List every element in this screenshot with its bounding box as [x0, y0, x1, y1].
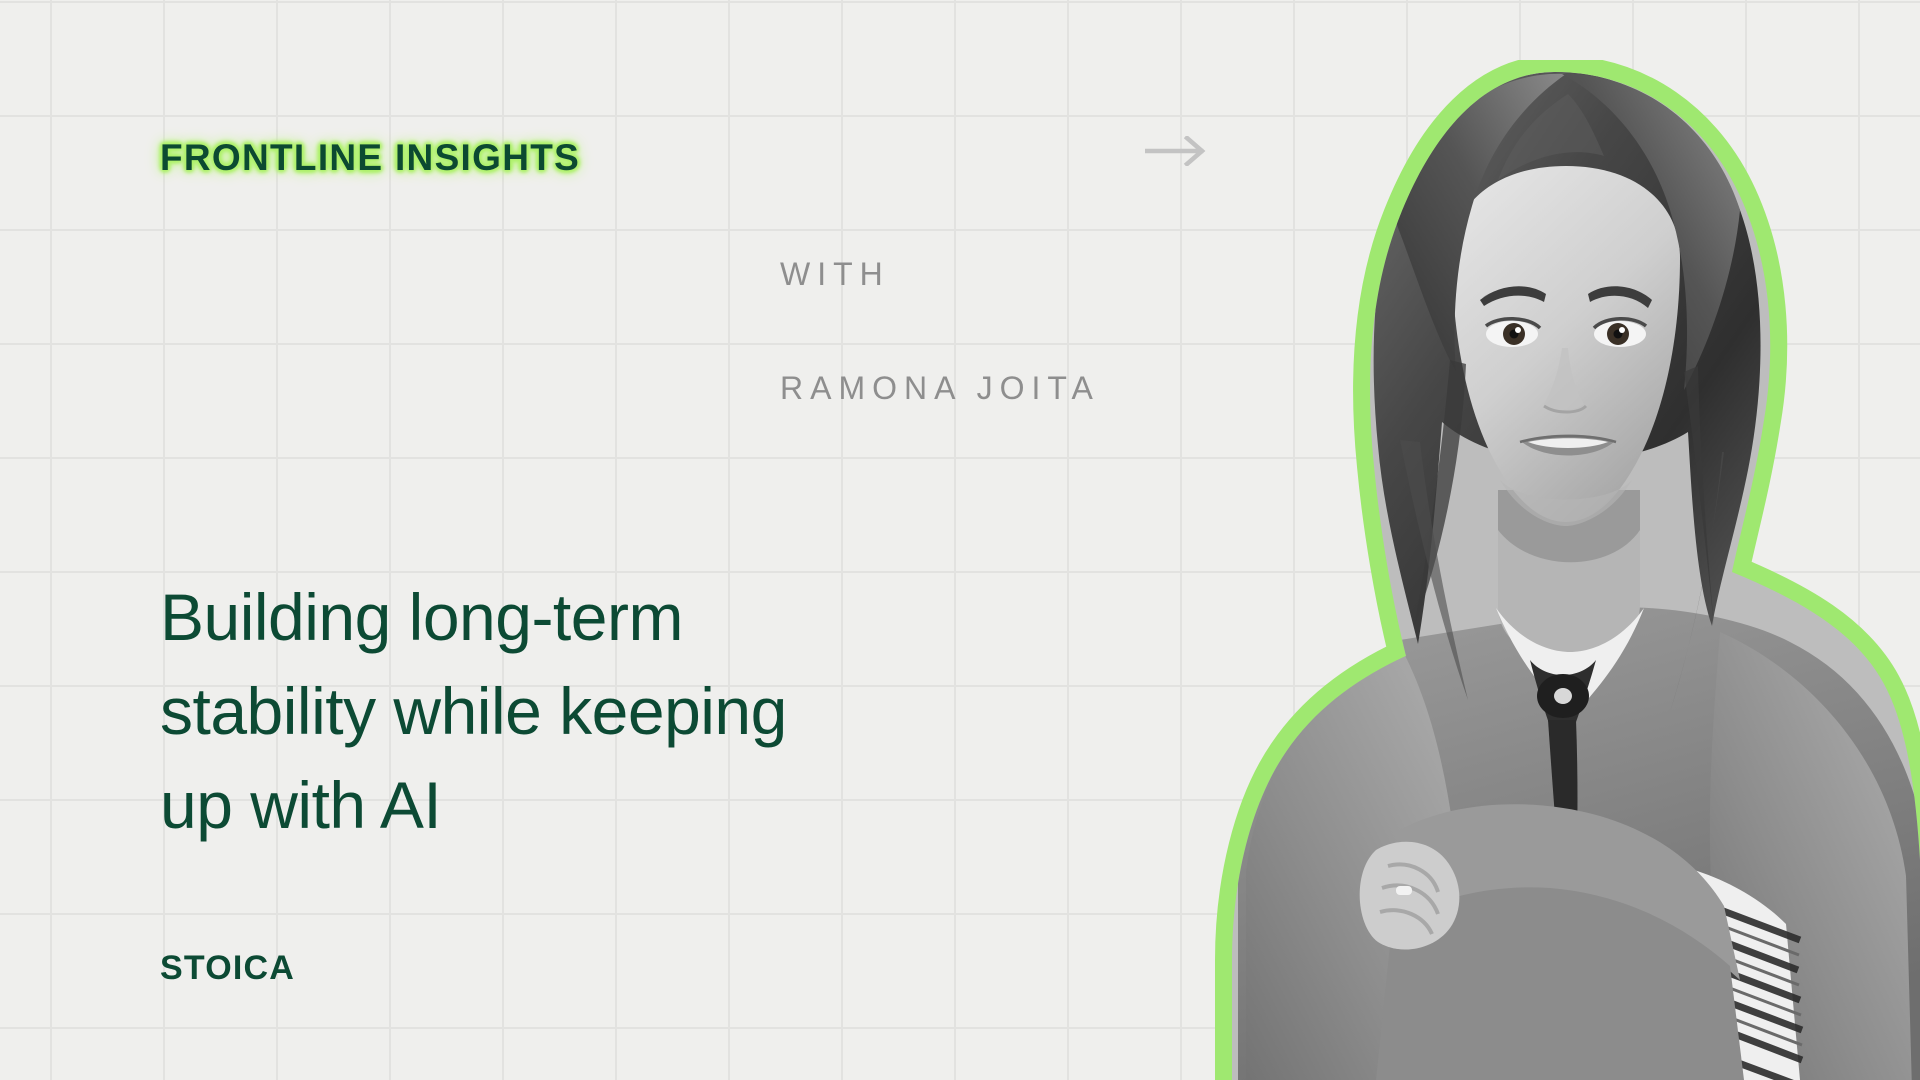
- headline-line-1: Building long-term: [160, 570, 960, 664]
- presentation-slide: FRONTLINE INSIGHTS WITH RAMONA JOITA Bui…: [0, 0, 1920, 1080]
- kicker-row: FRONTLINE INSIGHTS: [160, 137, 1060, 179]
- headline: Building long-term stability while keepi…: [160, 570, 960, 852]
- brand-logo: STOICA: [160, 949, 295, 988]
- slide-content: FRONTLINE INSIGHTS WITH RAMONA JOITA Bui…: [0, 0, 1160, 1080]
- headline-line-3: up with AI: [160, 758, 960, 852]
- with-label: WITH: [780, 256, 890, 293]
- arrow-right-icon[interactable]: [1145, 131, 1211, 171]
- headline-line-2: stability while keeping: [160, 664, 960, 758]
- guest-name: RAMONA JOITA: [780, 370, 1100, 407]
- kicker-label: FRONTLINE INSIGHTS: [160, 137, 580, 179]
- speaker-portrait: [1100, 60, 1920, 1080]
